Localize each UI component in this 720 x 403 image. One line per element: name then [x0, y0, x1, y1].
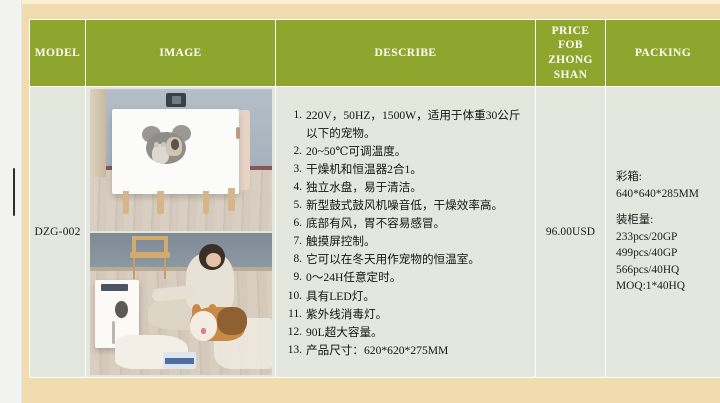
table-header-row: MODEL IMAGE DESCRIBE PRICE FOB ZHONG SHA…: [30, 20, 720, 87]
describe-item-12-number: 12.: [284, 324, 302, 341]
table-row: DZG-002: [30, 87, 720, 378]
photo2-wall: [90, 233, 272, 271]
describe-item-12: 12. 90L超大容量。: [284, 324, 529, 342]
describe-item-10-number: 10.: [284, 288, 302, 305]
describe-item-6-number: 6.: [284, 215, 302, 232]
describe-item-2: 2. 20~50℃可调温度。: [284, 143, 529, 161]
describe-item-10-text: 具有LED灯。: [306, 290, 375, 303]
sheet-top-highlight: [22, 0, 720, 4]
photo1-cabinet-handle: [236, 127, 241, 138]
describe-item-5-text: 新型鼓式鼓风机噪音低，干燥效率高。: [306, 199, 503, 212]
describe-item-7: 7. 触摸屏控制。: [284, 233, 529, 251]
column-header-packing: PACKING: [606, 20, 720, 87]
describe-item-1-text: 220V，50HZ，1500W，适用于体重30公斤以下的宠物。: [306, 109, 520, 140]
describe-item-13: 13. 产品尺寸：620*620*275MM: [284, 342, 529, 360]
viewer-left-gutter: [0, 0, 22, 403]
photo2-corgi-head: [190, 311, 217, 341]
describe-item-12-text: 90L超大容量。: [306, 326, 383, 339]
photo1-cat-white-ear-left: [154, 142, 159, 147]
describe-item-11-text: 紫外线消毒灯。: [306, 308, 387, 321]
pet-dryer-cabinet-with-cats-photo: [90, 89, 272, 231]
column-header-price-line-4: SHAN: [536, 68, 605, 83]
cell-describe: 1. 220V，50HZ，1500W，适用于体重30公斤以下的宠物。 2. 20…: [276, 87, 536, 378]
photo1-door-frame: [90, 89, 106, 177]
packing-moq: MOQ:1*40HQ: [616, 278, 714, 295]
column-header-model: MODEL: [30, 20, 86, 87]
column-header-image-line-1: IMAGE: [86, 46, 275, 61]
describe-item-4-number: 4.: [284, 179, 302, 196]
describe-item-11-number: 11.: [284, 306, 302, 323]
screenshot-page: MODEL IMAGE DESCRIBE PRICE FOB ZHONG SHA…: [0, 0, 720, 403]
model-value: DZG-002: [34, 226, 80, 238]
describe-item-4: 4. 独立水盘，易于清洁。: [284, 179, 529, 197]
cell-packing: 彩箱: 640*640*285MM 装柜量: 233pcs/20GP 499pc…: [606, 87, 720, 378]
photo2-product-box-band: [165, 358, 194, 364]
describe-item-11: 11. 紫外线消毒灯。: [284, 306, 529, 324]
describe-item-9-text: 0～24H任意定时。: [306, 271, 401, 284]
column-header-image: IMAGE: [86, 20, 276, 87]
photo2-dryer-control-panel: [101, 284, 128, 291]
describe-item-7-number: 7.: [284, 233, 302, 250]
product-image-stack: [86, 87, 275, 377]
photo1-cabinet-leg-2: [157, 191, 163, 214]
packing-carton-title: 彩箱:: [616, 169, 714, 186]
describe-item-3-text: 干燥机和恒温器2合1。: [306, 163, 422, 176]
photo1-cabinet-leg-1: [123, 191, 129, 214]
column-header-price-line-3: ZHONG: [536, 53, 605, 68]
photo1-bear-window-face: [146, 132, 185, 164]
describe-item-8: 8. 它可以在冬天用作宠物的恒温室。: [284, 251, 529, 269]
describe-item-13-number: 13.: [284, 342, 302, 359]
photo2-corgi-tongue: [201, 328, 206, 334]
describe-item-2-number: 2.: [284, 143, 302, 160]
cell-image: [86, 87, 276, 378]
woman-with-corgi-and-dryer-photo: [90, 233, 272, 375]
cell-model: DZG-002: [30, 87, 86, 378]
describe-item-1-number: 1.: [284, 107, 302, 124]
describe-item-8-text: 它可以在冬天用作宠物的恒温室。: [306, 253, 480, 266]
photo1-cabinet-leg-3: [203, 191, 209, 214]
describe-item-3-number: 3.: [284, 161, 302, 178]
packing-loading-20gp: 233pcs/20GP: [616, 229, 714, 246]
describe-item-6-text: 底部有风，胃不容易感冒。: [306, 217, 445, 230]
photo2-corgi-back-marking: [217, 307, 246, 335]
vertical-scroll-marker[interactable]: [13, 168, 15, 216]
photo1-cabinet-body: [112, 109, 239, 194]
packing-loading-40gp: 499pcs/40GP: [616, 245, 714, 262]
photo1-cabinet-leg-4: [228, 188, 234, 211]
column-header-model-line-1: MODEL: [30, 46, 85, 61]
photo2-chair-leg-2: [164, 258, 166, 280]
photo2-chair-leg-1: [133, 258, 135, 280]
column-header-describe: DESCRIBE: [276, 20, 536, 87]
column-header-price-line-1: PRICE: [536, 24, 605, 39]
packing-group-carton: 彩箱: 640*640*285MM: [616, 169, 714, 202]
table-header: MODEL IMAGE DESCRIBE PRICE FOB ZHONG SHA…: [30, 20, 720, 87]
describe-item-13-text: 产品尺寸：620*620*275MM: [306, 344, 448, 357]
describe-item-2-text: 20~50℃可调温度。: [306, 145, 406, 158]
describe-item-5: 5. 新型鼓式鼓风机噪音低，干燥效率高。: [284, 197, 529, 215]
describe-item-10: 10. 具有LED灯。: [284, 288, 529, 306]
packing-loading-40hq: 566pcs/40HQ: [616, 262, 714, 279]
describe-item-9-number: 9.: [284, 269, 302, 286]
photo2-wooden-chair: [130, 236, 170, 281]
column-header-price-line-2: FOB: [536, 38, 605, 53]
describe-item-9: 9. 0～24H任意定时。: [284, 269, 529, 287]
column-header-describe-line-1: DESCRIBE: [276, 46, 535, 61]
packing-loading-title: 装柜量:: [616, 212, 714, 229]
packing-carton-dimension: 640*640*285MM: [616, 186, 714, 203]
describe-item-7-text: 触摸屏控制。: [306, 235, 376, 248]
describe-item-4-text: 独立水盘，易于清洁。: [306, 181, 422, 194]
describe-item-1: 1. 220V，50HZ，1500W，适用于体重30公斤以下的宠物。: [284, 107, 529, 142]
price-value: 96.00USD: [546, 226, 595, 238]
describe-item-5-number: 5.: [284, 197, 302, 214]
column-header-price-fob-zhongshan: PRICE FOB ZHONG SHAN: [536, 20, 606, 87]
table-body: DZG-002: [30, 87, 720, 378]
photo1-wall-outlet: [166, 93, 186, 107]
packing-group-loading: 装柜量: 233pcs/20GP 499pcs/40GP 566pcs/40HQ…: [616, 212, 714, 295]
describe-item-6: 6. 底部有风，胃不容易感冒。: [284, 215, 529, 233]
describe-item-8-number: 8.: [284, 251, 302, 268]
describe-item-3: 3. 干燥机和恒温器2合1。: [284, 161, 529, 179]
describe-list: 1. 220V，50HZ，1500W，适用于体重30公斤以下的宠物。 2. 20…: [284, 107, 529, 360]
column-header-packing-line-1: PACKING: [606, 46, 720, 61]
product-spec-table: MODEL IMAGE DESCRIBE PRICE FOB ZHONG SHA…: [29, 19, 720, 378]
photo2-woman-face: [206, 253, 221, 267]
cell-price: 96.00USD: [536, 87, 606, 378]
